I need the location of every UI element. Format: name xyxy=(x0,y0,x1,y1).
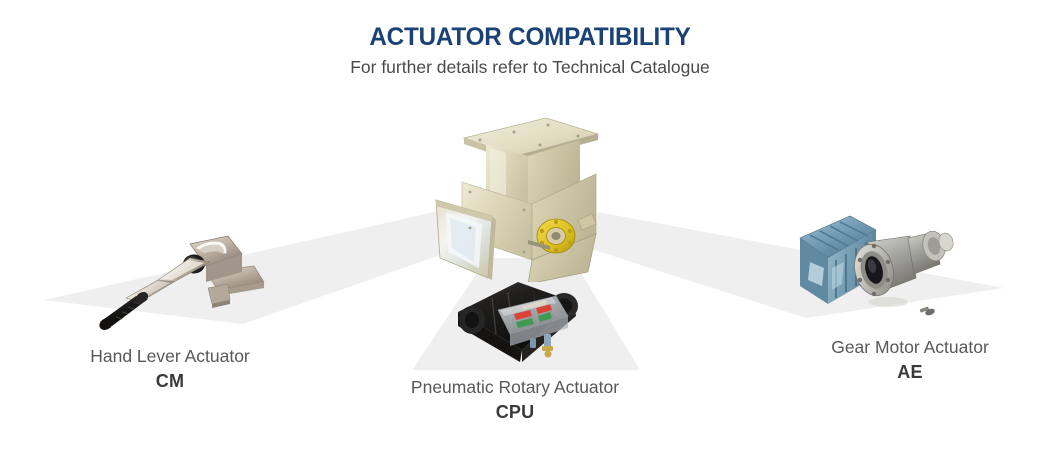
pneumatic-rotary-actuator-image xyxy=(452,272,592,367)
actuator-compatibility-diagram: ACTUATOR COMPATIBILITY For further detai… xyxy=(0,0,1060,456)
hand-lever-actuator-image xyxy=(78,212,288,342)
diverter-valve-image xyxy=(428,112,618,282)
gear-motor-actuator-image xyxy=(788,202,963,332)
